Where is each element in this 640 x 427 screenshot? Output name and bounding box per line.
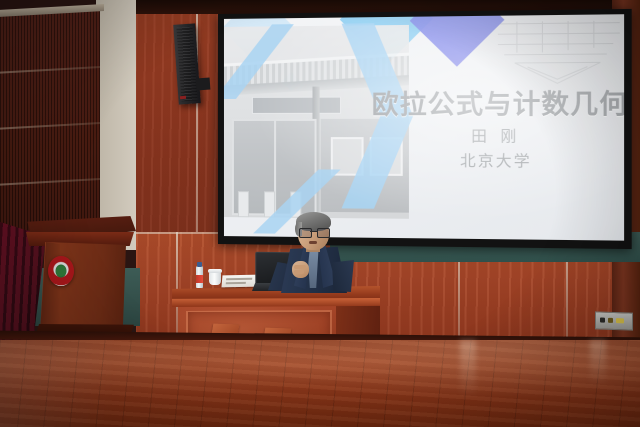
floor-reflection — [460, 340, 476, 398]
beige-wall-shadow — [96, 0, 136, 250]
projection-screen-frame: 欧拉公式与计数几何 田 刚 北京大学 — [218, 9, 632, 249]
floor-reflection — [590, 340, 606, 386]
slide-title: 欧拉公式与计数几何 — [372, 83, 623, 122]
tea-cup — [209, 272, 221, 285]
glasses-icon — [299, 228, 328, 236]
av-wall-plate[interactable] — [595, 311, 633, 330]
diamond-purple-shape — [410, 14, 505, 66]
lecture-hall-photo: 欧拉公式与计数几何 田 刚 北京大学 北京理工大学 — [0, 0, 640, 427]
speaker-bracket — [196, 78, 211, 91]
slide-author: 田 刚 — [372, 125, 623, 147]
ribbed-acoustic-panel — [0, 10, 100, 241]
desk-edge-lip — [172, 298, 380, 307]
speaker-led — [180, 96, 186, 99]
speaker-left-arm — [332, 260, 354, 292]
slide-affiliation: 北京大学 — [372, 149, 623, 171]
tea-cup-lid — [208, 269, 222, 273]
bottle-cap — [197, 262, 202, 267]
water-bottle — [196, 266, 203, 288]
university-crest-icon — [48, 256, 74, 286]
speaker-hand — [292, 261, 309, 278]
speaker-mouth — [309, 241, 317, 244]
projection-screen: 欧拉公式与计数几何 田 刚 北京大学 — [224, 14, 624, 240]
floor-gloss — [0, 340, 640, 427]
name-card — [221, 275, 258, 288]
